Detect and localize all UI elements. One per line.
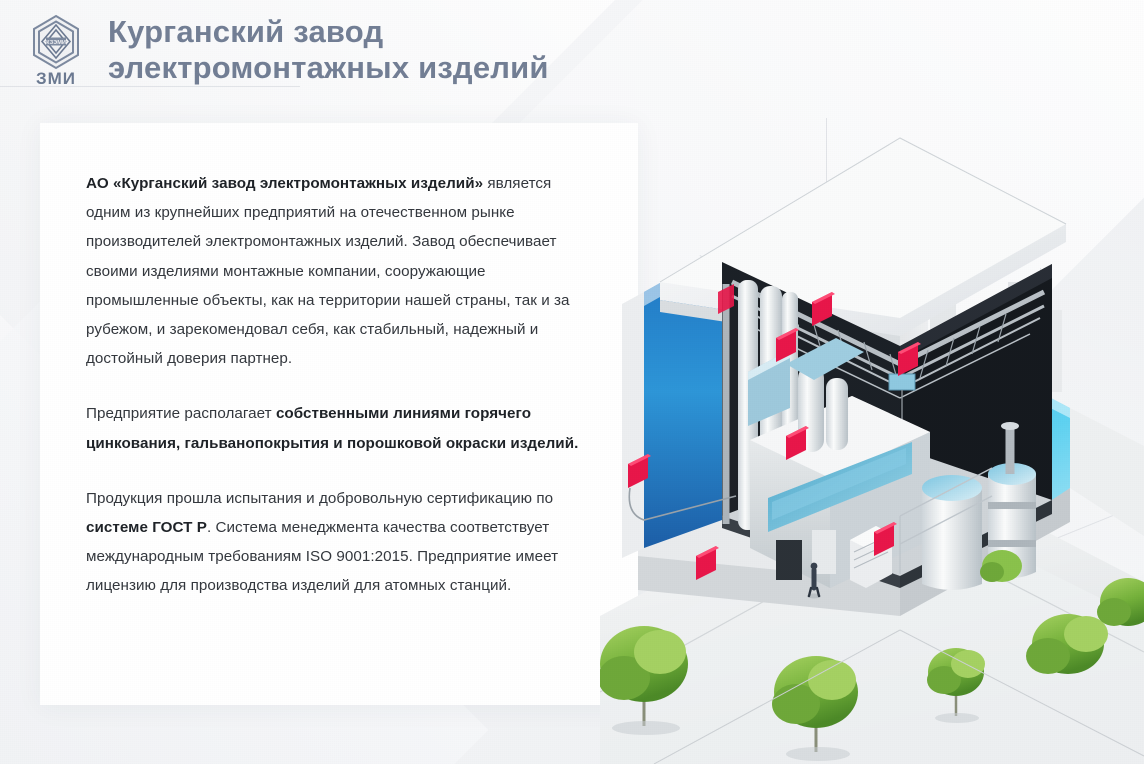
company-name-bold: АО «Курганский завод электромонтажных из… [86,175,483,192]
page-header: КЗЭМИ ЗМИ Курганский завод электромонтаж… [0,0,1144,100]
wall-right-white-panel [1070,408,1144,536]
zmi-hexagon-logo: КЗЭМИ ЗМИ [26,14,86,86]
slide-page: КЗЭМИ ЗМИ Курганский завод электромонтаж… [0,0,1144,764]
paragraph-company-overview: АО «Курганский завод электромонтажных из… [86,169,598,373]
logo-inner-text: КЗЭМИ [46,40,66,46]
info-card: АО «Курганский завод электромонтажных из… [40,123,638,705]
production-lines-lead: Предприятие располагает [86,405,276,422]
logo-letters: ЗМИ [36,69,76,86]
gost-standard-bold: системе ГОСТ Р [86,519,207,536]
paragraph-certification: Продукция прошла испытания и добровольну… [86,484,598,601]
page-title: Курганский завод электромонтажных издели… [108,14,549,87]
paragraph-production-lines: Предприятие располагает собственными лин… [86,399,598,457]
company-overview-rest: является одним из крупнейших предприятий… [86,175,570,367]
certification-part1: Продукция прошла испытания и добровольну… [86,490,553,507]
isometric-factory-cutaway [600,96,1144,764]
